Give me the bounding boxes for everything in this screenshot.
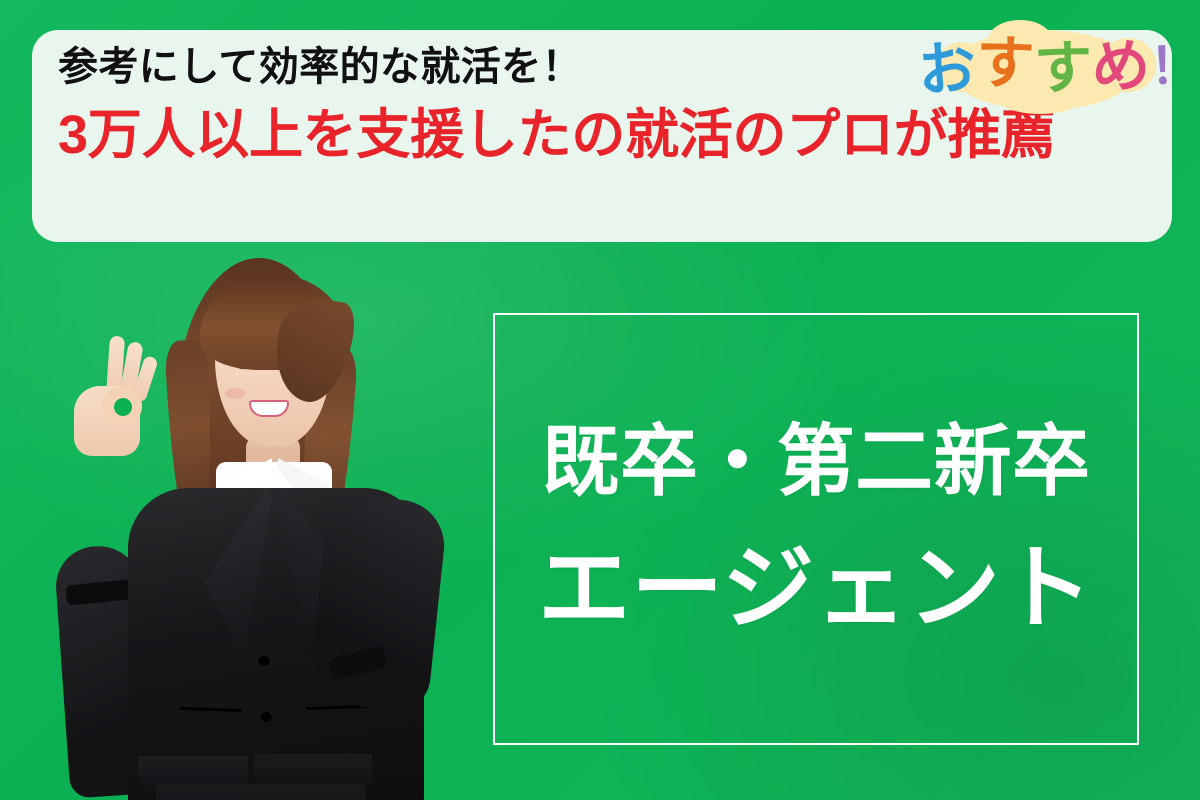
headline-subheading: 参考にして効率的な就活を！ xyxy=(58,44,1146,90)
jacket-button-top xyxy=(258,654,270,666)
headline-heading: 3万人以上を支援したの就活のプロが推薦 xyxy=(58,104,1146,168)
copy-line-secondary: エージェント xyxy=(538,541,1094,638)
jacket-button-bottom xyxy=(260,710,272,722)
business-woman-photo xyxy=(40,248,460,800)
copy-line-primary: 既卒・第二新卒 xyxy=(542,421,1091,503)
ok-hand-gesture xyxy=(62,334,154,460)
headline-card: 参考にして効率的な就活を！ 3万人以上を支援したの就活のプロが推薦 xyxy=(32,30,1172,242)
banner-stage: 参考にして効率的な就活を！ 3万人以上を支援したの就活のプロが推薦 お す す … xyxy=(0,0,1200,800)
copy-box: 既卒・第二新卒 エージェント xyxy=(493,313,1139,745)
skirt xyxy=(156,784,366,800)
cheek-left xyxy=(225,388,245,399)
smiling-mouth xyxy=(249,400,289,417)
